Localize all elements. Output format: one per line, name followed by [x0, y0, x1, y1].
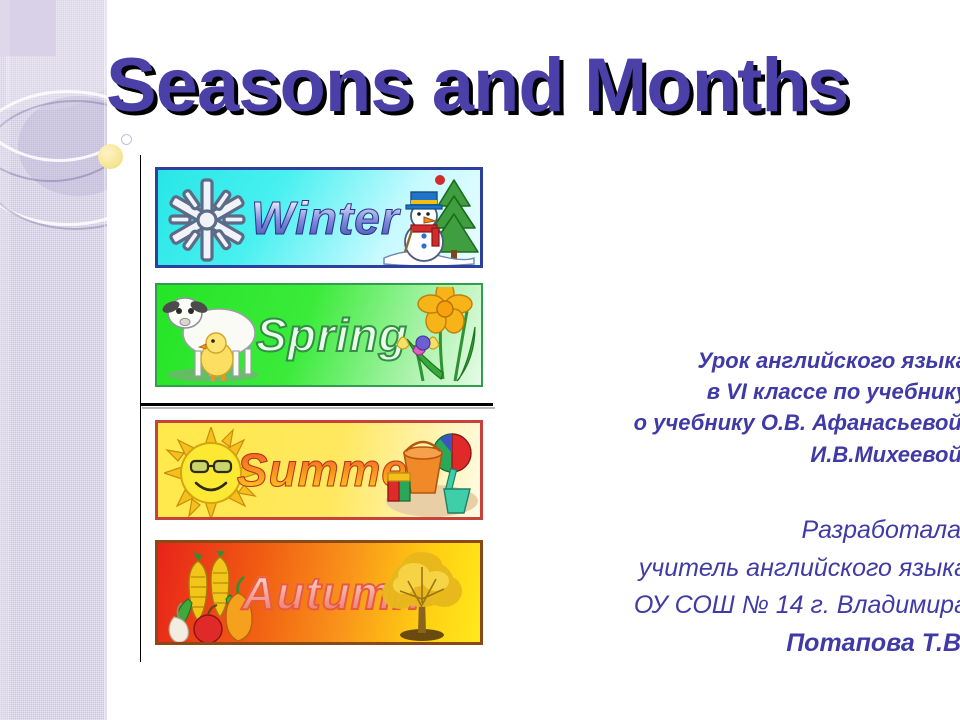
author-info-line-3: ОУ СОШ № 14 г. Владимира: [330, 587, 960, 625]
author-name: Потапова Т.В.: [330, 625, 960, 663]
presentation-slide: Seasons and Months Winter: [0, 0, 960, 720]
tiny-ring-icon: [121, 134, 132, 145]
snowman-and-fir-tree-icon: [378, 172, 480, 268]
lesson-info-line-2: в VI классе по учебнику: [360, 376, 960, 407]
yellow-dot-icon: [98, 144, 123, 169]
season-banner-winter: Winter: [155, 167, 483, 268]
page-title: Seasons and Months: [106, 46, 960, 127]
lesson-info-block: Урок английского языка в VI классе по уч…: [360, 345, 960, 470]
sidebar-left-stripe: [0, 0, 10, 720]
vertical-divider: [140, 155, 141, 662]
decorative-sidebar: [0, 0, 107, 720]
sidebar-ring-inner-dark-icon: [0, 100, 107, 230]
lesson-info-line-4: И.В.Михеевой.: [360, 439, 960, 470]
author-info-block: Разработала: учитель английского языка О…: [330, 512, 960, 662]
author-info-line-1: Разработала:: [330, 512, 960, 550]
snowflake-icon: [164, 176, 250, 264]
lesson-info-line-1: Урок английского языка: [360, 345, 960, 376]
author-info-line-2: учитель английского языка: [330, 550, 960, 588]
lesson-info-line-3: о учебнику О.В. Афанасьевой,: [360, 407, 960, 438]
